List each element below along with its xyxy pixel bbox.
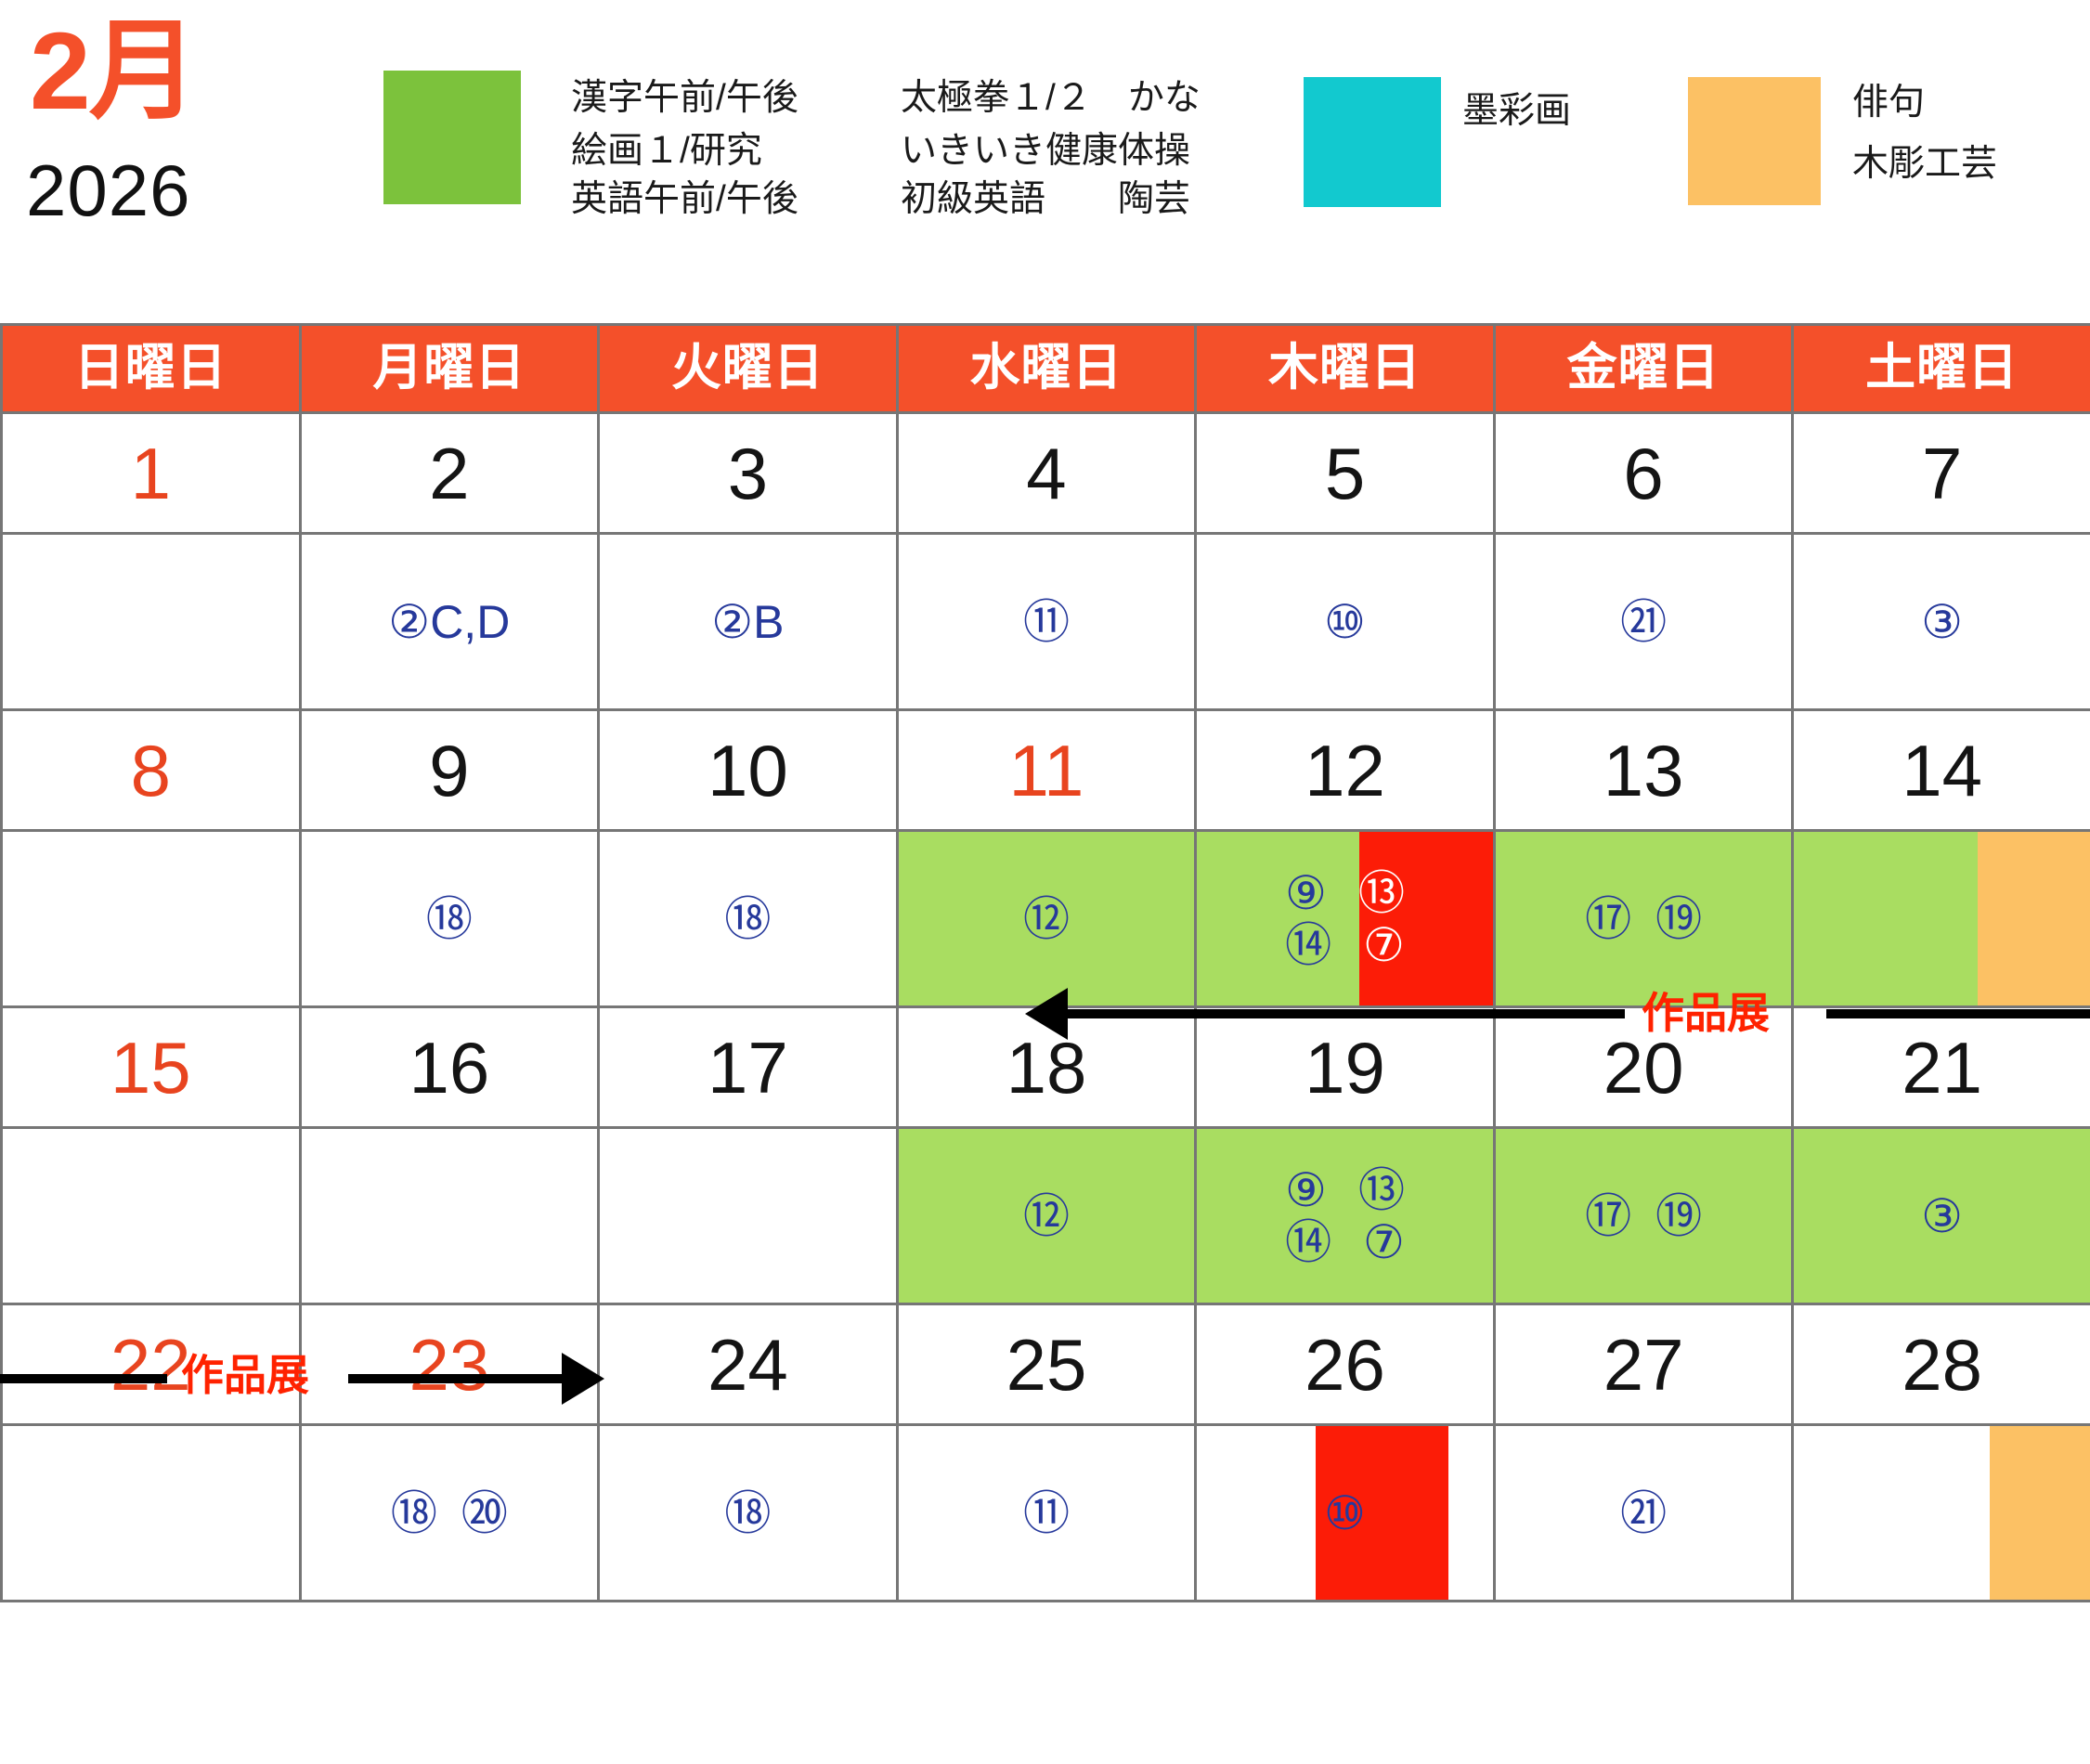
legend-label-shokyueigo: 初級英語 陶芸	[901, 181, 1190, 217]
event-badge[interactable]: ③	[1921, 1193, 1963, 1239]
event-badge[interactable]: ⑫	[1023, 1193, 1070, 1239]
event-badge-group: ⑩	[1197, 1426, 1493, 1600]
date-cell[interactable]: 12	[1196, 710, 1495, 831]
event-badge-group: ⑩	[1197, 535, 1493, 708]
legend-label-kaiga: 絵画１/研究	[571, 133, 762, 169]
event-cell[interactable]	[1793, 1425, 2090, 1602]
event-badge[interactable]: ⑱	[724, 1490, 771, 1537]
event-badge-group: ③	[1794, 535, 2090, 708]
event-badge-group	[600, 1129, 896, 1303]
event-badge[interactable]: ⑩	[1324, 1490, 1366, 1537]
weekday-header-saturday: 土曜日	[1793, 325, 2090, 413]
date-cell[interactable]: 15	[2, 1007, 301, 1128]
event-badge-group: ②C,D	[302, 535, 598, 708]
legend-label-bokusaiga: 墨彩画	[1462, 93, 1571, 129]
weekday-header-friday: 金曜日	[1494, 325, 1793, 413]
event-badge[interactable]: ⑬	[1358, 1167, 1405, 1213]
date-cell[interactable]: 11	[897, 710, 1196, 831]
event-badge-group: ②B	[600, 535, 896, 708]
event-cell[interactable]: ⑱⑳	[300, 1425, 599, 1602]
date-cell[interactable]: 1	[2, 413, 301, 534]
event-cell[interactable]: ㉑	[1494, 534, 1793, 710]
date-cell[interactable]: 18	[897, 1007, 1196, 1128]
event-badge-group	[3, 832, 299, 1005]
event-cell[interactable]: ⑫	[897, 831, 1196, 1007]
event-badge[interactable]: ⑨	[1285, 870, 1327, 916]
date-cell[interactable]: 9	[300, 710, 599, 831]
event-row: ②C,D②B⑪⑩㉑③	[2, 534, 2090, 710]
event-badge-group	[1794, 832, 2090, 1005]
event-cell[interactable]: ⑩	[1196, 1425, 1495, 1602]
date-cell[interactable]: 3	[599, 413, 898, 534]
date-cell[interactable]: 16	[300, 1007, 599, 1128]
date-cell[interactable]: 24	[599, 1304, 898, 1425]
event-cell[interactable]	[300, 1128, 599, 1304]
event-cell[interactable]	[2, 534, 301, 710]
event-badge[interactable]: ③	[1921, 599, 1963, 645]
event-badge-group	[3, 1129, 299, 1303]
date-cell[interactable]: 2	[300, 413, 599, 534]
event-badge-row: ⑭⑦	[1206, 1219, 1484, 1265]
event-badge-group	[3, 1426, 299, 1600]
event-badge[interactable]: ⑱	[724, 896, 771, 942]
date-cell[interactable]: 21	[1793, 1007, 2090, 1128]
cyan-swatch	[1304, 77, 1441, 207]
date-cell[interactable]: 17	[599, 1007, 898, 1128]
event-badge[interactable]: ⑦	[1363, 922, 1405, 968]
event-cell[interactable]: ②B	[599, 534, 898, 710]
date-cell[interactable]: 19	[1196, 1007, 1495, 1128]
calendar-header: 2月 2026 漢字午前/午後 絵画１/研究 英語午前/午後 太極拳１/２ かな…	[0, 0, 2090, 325]
event-badge[interactable]: ⑫	[1023, 896, 1070, 942]
event-badge-group: ⑪	[899, 1426, 1195, 1600]
event-cell[interactable]: ⑱	[300, 831, 599, 1007]
event-cell[interactable]: ⑰⑲	[1494, 1128, 1793, 1304]
weekday-header-wednesday: 水曜日	[897, 325, 1196, 413]
weekday-header-monday: 月曜日	[300, 325, 599, 413]
event-badge-group: ㉑	[1496, 1426, 1792, 1600]
event-badge-group: ㉑	[1496, 535, 1792, 708]
date-cell[interactable]: 10	[599, 710, 898, 831]
event-cell[interactable]: ⑪	[897, 534, 1196, 710]
event-badge[interactable]: ⑰	[1585, 1193, 1631, 1239]
date-cell[interactable]: 23	[300, 1304, 599, 1425]
green-swatch	[383, 71, 521, 204]
event-badge-group	[3, 535, 299, 708]
event-badge-group: ⑱⑳	[302, 1426, 598, 1600]
event-badge[interactable]: ⑬	[1358, 870, 1405, 916]
event-badge-group: ⑱	[302, 832, 598, 1005]
event-badge[interactable]: ⑲	[1655, 1193, 1702, 1239]
legend-label-taikyokuken: 太極拳１/２ かな	[901, 80, 1201, 116]
weekday-header-tuesday: 火曜日	[599, 325, 898, 413]
date-cell[interactable]: 14	[1793, 710, 2090, 831]
date-row: 22232425262728	[2, 1304, 2090, 1425]
date-cell[interactable]: 13	[1494, 710, 1793, 831]
date-row: 1234567	[2, 413, 2090, 534]
date-row: 15161718192021	[2, 1007, 2090, 1128]
event-badge[interactable]: ⑱	[426, 896, 473, 942]
orange-swatch	[1688, 77, 1821, 205]
event-row: ⑱⑳⑱⑪⑩㉑	[2, 1425, 2090, 1602]
event-badge-group: ⑱	[600, 1426, 896, 1600]
event-cell[interactable]	[599, 1128, 898, 1304]
event-badge-group	[302, 1129, 598, 1303]
event-cell[interactable]: ⑨⑬⑭⑦	[1196, 1128, 1495, 1304]
event-badge[interactable]: ⑭	[1285, 922, 1331, 968]
event-cell[interactable]: ⑱	[599, 1425, 898, 1602]
date-cell[interactable]: 20	[1494, 1007, 1793, 1128]
date-cell[interactable]: 25	[897, 1304, 1196, 1425]
event-cell[interactable]	[2, 1128, 301, 1304]
event-badge[interactable]: ㉑	[1620, 599, 1667, 645]
event-badge-row: ⑨⑬	[1206, 1167, 1484, 1213]
event-cell[interactable]: ③	[1793, 1128, 2090, 1304]
event-badge[interactable]: ②C,D	[388, 599, 510, 645]
weekday-header-row: 日曜日 月曜日 火曜日 水曜日 木曜日 金曜日 土曜日	[2, 325, 2090, 413]
event-badge[interactable]: ⑳	[461, 1490, 508, 1537]
event-cell[interactable]: ③	[1793, 534, 2090, 710]
date-cell[interactable]: 8	[2, 710, 301, 831]
date-cell[interactable]: 7	[1793, 413, 2090, 534]
event-badge[interactable]: ⑨	[1285, 1167, 1327, 1213]
event-cell[interactable]: ⑫	[897, 1128, 1196, 1304]
event-badge[interactable]: ⑱	[391, 1490, 437, 1537]
event-badge-row: ⑭⑦	[1206, 922, 1484, 968]
event-row: ⑱⑱⑫⑨⑬⑭⑦⑰⑲	[2, 831, 2090, 1007]
weekday-header-sunday: 日曜日	[2, 325, 301, 413]
date-cell[interactable]: 22	[2, 1304, 301, 1425]
event-badge[interactable]: ⑪	[1023, 1490, 1070, 1537]
date-cell[interactable]: 4	[897, 413, 1196, 534]
event-badge-group: ⑫	[899, 832, 1195, 1005]
event-badge-group: ③	[1794, 1129, 2090, 1303]
event-badge-group: ⑨⑬⑭⑦	[1197, 1129, 1493, 1303]
event-badge-group: ⑨⑬⑭⑦	[1197, 832, 1493, 1005]
date-row: 891011121314	[2, 710, 2090, 831]
event-badge-group: ⑫	[899, 1129, 1195, 1303]
calendar-page: 2月 2026 漢字午前/午後 絵画１/研究 英語午前/午後 太極拳１/２ かな…	[0, 0, 2090, 1764]
event-row: ⑫⑨⑬⑭⑦⑰⑲③	[2, 1128, 2090, 1304]
date-cell[interactable]: 27	[1494, 1304, 1793, 1425]
event-badge-group: ⑪	[899, 535, 1195, 708]
event-badge-group	[1794, 1426, 2090, 1600]
date-cell[interactable]: 6	[1494, 413, 1793, 534]
event-badge-row: ⑨⑬	[1206, 870, 1484, 916]
event-badge[interactable]: ⑭	[1285, 1219, 1331, 1265]
event-badge[interactable]: ②B	[711, 599, 784, 645]
event-badge[interactable]: ⑲	[1655, 896, 1702, 942]
event-cell[interactable]: ⑩	[1196, 534, 1495, 710]
event-cell[interactable]: ⑨⑬⑭⑦	[1196, 831, 1495, 1007]
date-cell[interactable]: 5	[1196, 413, 1495, 534]
event-badge-group: ⑱	[600, 832, 896, 1005]
event-badge[interactable]: ⑦	[1363, 1219, 1405, 1265]
legend-label-eigo: 英語午前/午後	[571, 181, 798, 217]
event-cell[interactable]: ⑱	[599, 831, 898, 1007]
event-badge-group: ⑰⑲	[1496, 832, 1792, 1005]
calendar-table: 日曜日 月曜日 火曜日 水曜日 木曜日 金曜日 土曜日 1234567②C,D②…	[0, 323, 2090, 1602]
event-badge[interactable]: ⑰	[1585, 896, 1631, 942]
event-cell[interactable]: ㉑	[1494, 1425, 1793, 1602]
event-cell[interactable]	[1793, 831, 2090, 1007]
event-cell[interactable]	[2, 1425, 301, 1602]
event-badge[interactable]: ⑩	[1324, 599, 1366, 645]
event-badge[interactable]: ㉑	[1620, 1490, 1667, 1537]
event-cell[interactable]: ②C,D	[300, 534, 599, 710]
legend-label-kenkotaiso: いきいき健康体操	[901, 133, 1190, 169]
legend: 漢字午前/午後 絵画１/研究 英語午前/午後 太極拳１/２ かな いきいき健康体…	[0, 0, 2090, 306]
event-cell[interactable]: ⑰⑲	[1494, 831, 1793, 1007]
legend-label-kanji: 漢字午前/午後	[571, 80, 798, 116]
date-cell[interactable]: 26	[1196, 1304, 1495, 1425]
event-badge-group: ⑰⑲	[1496, 1129, 1792, 1303]
legend-label-haiku: 俳句	[1852, 84, 1925, 121]
event-badge[interactable]: ⑪	[1023, 599, 1070, 645]
legend-label-kibori: 木彫工芸	[1852, 146, 1997, 182]
event-cell[interactable]: ⑪	[897, 1425, 1196, 1602]
event-cell[interactable]	[2, 831, 301, 1007]
date-cell[interactable]: 28	[1793, 1304, 2090, 1425]
weekday-header-thursday: 木曜日	[1196, 325, 1495, 413]
